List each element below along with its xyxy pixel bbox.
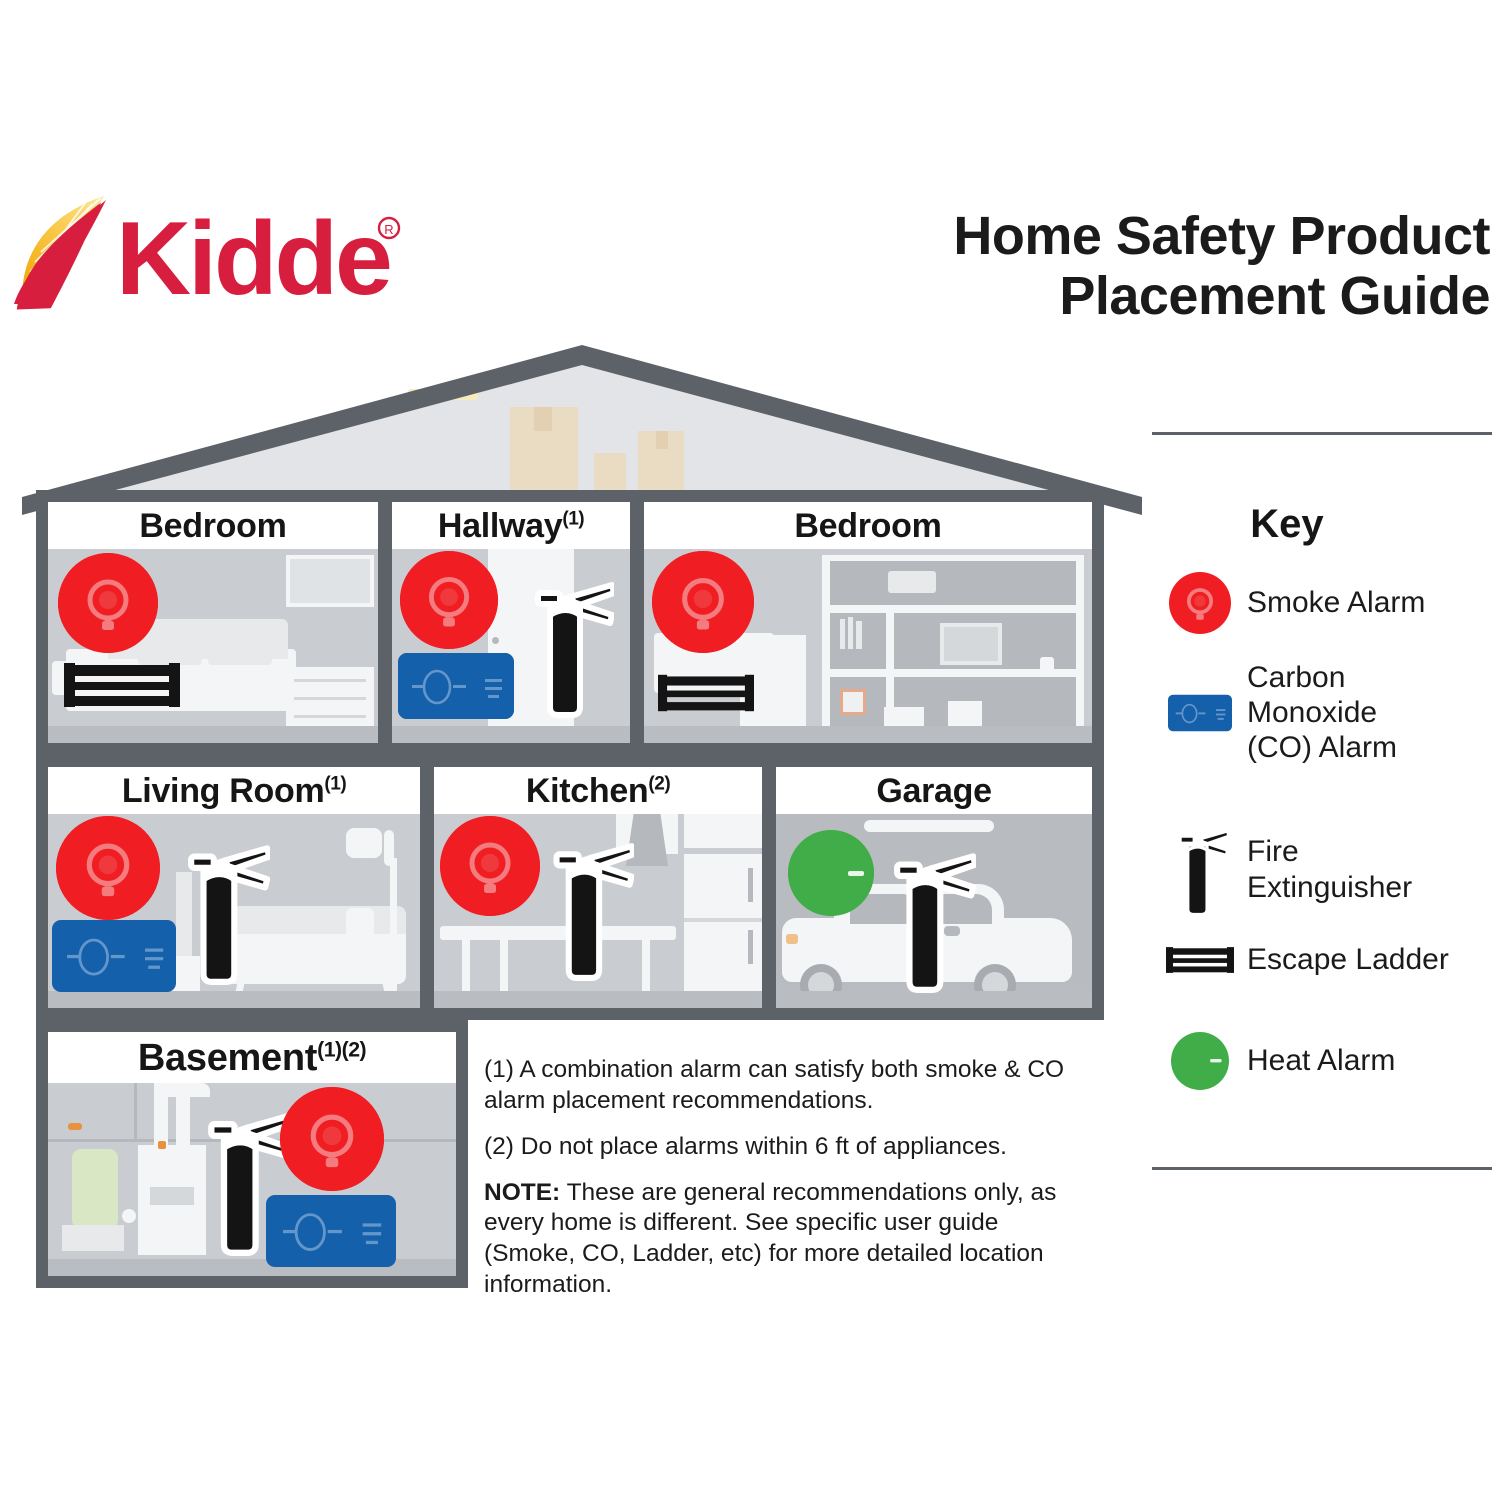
valve-icon xyxy=(122,1209,136,1223)
room-interior-bedroom-left xyxy=(48,549,378,743)
shelf-box-icon xyxy=(888,571,936,593)
floor-lamp-pole-icon xyxy=(390,858,397,998)
room-label-living-room: Living Room(1) xyxy=(48,767,420,814)
key-title: Key xyxy=(1152,502,1422,547)
key-divider-top xyxy=(1152,432,1492,435)
room-interior-bedroom-right xyxy=(644,549,1092,743)
furnace-duct-icon xyxy=(154,1083,210,1097)
kidde-logo: Kidde R xyxy=(8,190,408,310)
fridge-handle-icon xyxy=(748,930,753,964)
escape-ladder-icon xyxy=(658,671,754,715)
sofa-arm-icon xyxy=(346,908,374,964)
room-label-bedroom-left: Bedroom xyxy=(48,502,378,549)
room-label-garage: Garage xyxy=(776,767,1092,814)
heat-alarm-icon xyxy=(1152,1032,1247,1090)
escape-ladder-icon xyxy=(64,661,180,709)
floor-line xyxy=(48,991,420,1008)
room-interior-living-room xyxy=(48,814,420,1008)
pipe-fitting-icon xyxy=(158,1141,166,1149)
key-label-line: Carbon xyxy=(1247,660,1397,695)
page-title-line-2: Placement Guide xyxy=(810,266,1490,326)
room-interior-basement xyxy=(48,1083,456,1276)
fire-extinguisher-icon xyxy=(882,842,976,994)
smoke-alarm-icon xyxy=(440,816,540,916)
dresser-drawer-line xyxy=(294,715,366,718)
room-living-room: Living Room(1) xyxy=(48,767,420,1008)
key-label-line: Smoke Alarm xyxy=(1247,585,1425,620)
room-garage: Garage xyxy=(776,767,1092,1008)
key-item-co-alarm: Carbon Monoxide (CO) Alarm xyxy=(1152,660,1492,765)
room-basement: Basement(1)(2) xyxy=(48,1032,456,1276)
room-hallway: Hallway(1) xyxy=(392,502,630,743)
floor-line xyxy=(434,991,762,1008)
pipe-fitting-icon xyxy=(68,1123,82,1130)
window-icon xyxy=(286,555,374,607)
key-item-smoke-alarm: Smoke Alarm xyxy=(1152,572,1492,634)
upper-floor: Bedroom xyxy=(36,490,1104,755)
dresser-drawer-line xyxy=(294,679,366,682)
floor-line xyxy=(392,726,630,743)
fire-extinguisher-icon xyxy=(524,571,614,719)
key-label-line: Escape Ladder xyxy=(1247,942,1449,977)
water-tank-icon xyxy=(72,1149,118,1229)
room-label-basement: Basement(1)(2) xyxy=(48,1032,456,1083)
kidde-wordmark: Kidde xyxy=(116,201,390,310)
book-icon xyxy=(848,617,853,649)
co-alarm-icon xyxy=(266,1195,396,1267)
fire-extinguisher-icon xyxy=(542,832,634,982)
note-3: NOTE: These are general recommendations … xyxy=(484,1178,1084,1301)
co-alarm-icon xyxy=(1152,694,1247,732)
smoke-alarm-icon xyxy=(652,551,754,653)
room-interior-kitchen xyxy=(434,814,762,1008)
registered-trademark-letter: R xyxy=(384,222,393,237)
room-kitchen: Kitchen(2) xyxy=(434,767,762,1008)
book-icon xyxy=(856,621,862,649)
note-2: (2) Do not place alarms within 6 ft of a… xyxy=(484,1132,1084,1163)
key-label-fire-extinguisher: Fire Extinguisher xyxy=(1247,834,1412,904)
room-interior-garage xyxy=(776,814,1092,1008)
key-label-heat-alarm: Heat Alarm xyxy=(1247,1043,1395,1078)
floor-line xyxy=(644,726,1092,743)
key-label-line: Monoxide xyxy=(1247,695,1397,730)
book-icon xyxy=(840,619,845,649)
co-alarm-icon xyxy=(52,920,176,992)
attic-interior xyxy=(74,359,1090,497)
kidde-logo-svg: Kidde R xyxy=(8,190,408,310)
room-label-bedroom-right: Bedroom xyxy=(644,502,1092,549)
room-label-hallway: Hallway(1) xyxy=(392,502,630,549)
dresser-drawer-line xyxy=(294,697,366,700)
page-title-line-1: Home Safety Product xyxy=(810,206,1490,266)
pillow-icon xyxy=(208,635,272,665)
co-alarm-icon xyxy=(398,653,514,719)
kidde-sunburst-icon xyxy=(13,196,106,309)
fire-extinguisher-icon xyxy=(1152,822,1247,917)
key-divider-bottom xyxy=(1152,1167,1492,1170)
shelf-top xyxy=(830,561,1076,605)
key-label-line: (CO) Alarm xyxy=(1247,730,1397,765)
plant-icon xyxy=(1040,657,1054,673)
key-label-line: Heat Alarm xyxy=(1247,1043,1395,1078)
garage-light-icon xyxy=(864,820,994,832)
key-label-escape-ladder: Escape Ladder xyxy=(1247,942,1449,977)
smoke-alarm-icon xyxy=(1152,572,1247,634)
key-label-smoke-alarm: Smoke Alarm xyxy=(1247,585,1425,620)
floor-lamp-head-icon xyxy=(346,828,382,858)
basement-wall-line xyxy=(134,1083,137,1139)
floor-line xyxy=(48,726,378,743)
smoke-alarm-icon xyxy=(280,1087,384,1191)
main-floor: Living Room(1) xyxy=(36,755,1104,1020)
note-3-label: NOTE: xyxy=(484,1179,560,1206)
smoke-alarm-icon xyxy=(56,816,160,920)
notes-block: (1) A combination alarm can satisfy both… xyxy=(484,1055,1084,1301)
picture-frame-icon xyxy=(840,689,866,715)
upper-cabinet-icon xyxy=(684,814,762,848)
smoke-alarm-icon xyxy=(400,551,498,649)
car-headlight-icon xyxy=(786,934,798,944)
escape-ladder-icon xyxy=(1152,945,1247,975)
note-3-body: These are general recommendations only, … xyxy=(484,1179,1056,1299)
page-title: Home Safety Product Placement Guide xyxy=(810,206,1490,327)
room-bedroom-right: Bedroom xyxy=(644,502,1092,743)
key-item-fire-extinguisher: Fire Extinguisher xyxy=(1152,822,1492,917)
basement-floor: Basement(1)(2) xyxy=(36,1020,468,1288)
room-bedroom-left: Bedroom xyxy=(48,502,378,743)
key-label-line: Fire xyxy=(1247,834,1412,869)
key-item-escape-ladder: Escape Ladder xyxy=(1152,942,1492,977)
key-label-line: Extinguisher xyxy=(1247,870,1412,905)
monitor-icon xyxy=(940,623,1002,665)
fire-extinguisher-icon xyxy=(176,834,270,986)
fridge-divider xyxy=(684,918,762,922)
note-1: (1) A combination alarm can satisfy both… xyxy=(484,1055,1084,1117)
key-legend-panel: Key Smoke Alarm xyxy=(1152,432,1492,1192)
room-interior-hallway xyxy=(392,549,630,743)
smoke-alarm-icon xyxy=(58,553,158,653)
fridge-handle-icon xyxy=(748,868,753,902)
tank-base-icon xyxy=(62,1225,124,1251)
key-label-co-alarm: Carbon Monoxide (CO) Alarm xyxy=(1247,660,1397,765)
heat-alarm-icon xyxy=(788,830,874,916)
furnace-panel-icon xyxy=(150,1187,194,1205)
key-item-heat-alarm: Heat Alarm xyxy=(1152,1032,1492,1090)
room-label-kitchen: Kitchen(2) xyxy=(434,767,762,814)
